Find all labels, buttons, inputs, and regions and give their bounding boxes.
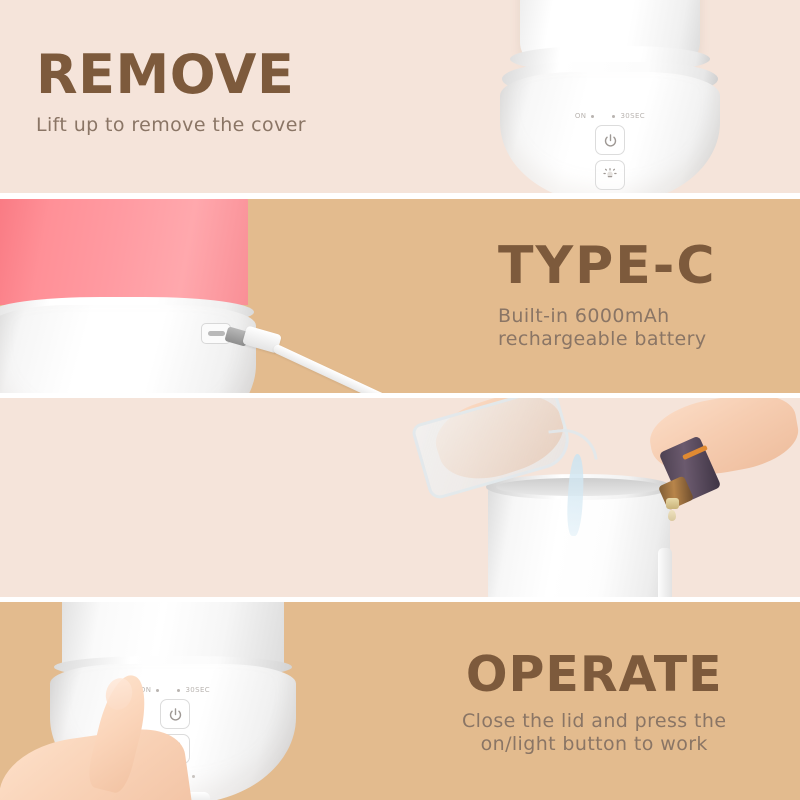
- diffuser-lid-open-illustration: ON 30SEC: [460, 0, 760, 193]
- diffuser-pink-cover: [0, 199, 248, 305]
- panel-divider: [0, 597, 800, 602]
- legend-timer-indicator: [612, 115, 615, 118]
- diffuser-usbc-illustration: [0, 199, 312, 393]
- legend-on-label: ON: [575, 112, 587, 120]
- diffuser-bowl: [0, 305, 256, 393]
- legend-timer-label: 30SEC: [185, 686, 210, 694]
- remove-text-block: REMOVE Lift up to remove the cover: [36, 48, 306, 137]
- power-button[interactable]: [160, 699, 190, 729]
- panel-type-c: TYPE-C Built-in 6000mAh rechargeable bat…: [0, 199, 800, 393]
- panel-divider: [0, 393, 800, 398]
- infographic-sheet: ON 30SEC: [0, 0, 800, 800]
- panel-divider: [0, 193, 800, 199]
- light-button[interactable]: [595, 160, 625, 190]
- control-panel: ON 30SEC: [557, 112, 663, 193]
- type-c-headline: TYPE-C: [498, 240, 717, 292]
- type-c-text-block: TYPE-C Built-in 6000mAh rechargeable bat…: [498, 240, 717, 351]
- remove-headline: REMOVE: [36, 48, 306, 102]
- power-button[interactable]: [595, 125, 625, 155]
- power-icon: [168, 707, 183, 722]
- indicator-dot: [192, 775, 195, 778]
- control-legend: ON 30SEC: [557, 112, 663, 120]
- power-icon: [603, 133, 618, 148]
- legend-on-indicator: [156, 689, 159, 692]
- panel-operate: ON 30SEC: [0, 602, 800, 800]
- operate-text-block: OPERATE Close the lid and press the on/l…: [462, 650, 726, 756]
- usb-c-cable: [272, 343, 493, 393]
- essential-oil-dropper-tip: [666, 498, 679, 509]
- fill-tank-illustration: [400, 398, 800, 597]
- operate-subline-line1: Close the lid and press the: [462, 710, 726, 733]
- operate-subline-line2: on/light button to work: [462, 733, 726, 756]
- press-button-illustration: ON 30SEC: [10, 602, 350, 800]
- legend-timer-label: 30SEC: [620, 112, 645, 120]
- panel-remove: ON 30SEC: [0, 0, 800, 193]
- remove-subline: Lift up to remove the cover: [36, 114, 306, 137]
- essential-oil-droplet: [668, 510, 676, 521]
- panel-add: ADD Fill water tank to under the max lin…: [0, 398, 800, 597]
- operate-headline: OPERATE: [462, 650, 726, 699]
- type-c-subline-line2: rechargeable battery: [498, 328, 717, 351]
- light-bulb-icon: [602, 167, 618, 183]
- legend-timer-indicator: [177, 689, 180, 692]
- type-c-subline-line1: Built-in 6000mAh: [498, 305, 717, 328]
- water-tank-side-tab: [658, 548, 672, 597]
- legend-on-indicator: [591, 115, 594, 118]
